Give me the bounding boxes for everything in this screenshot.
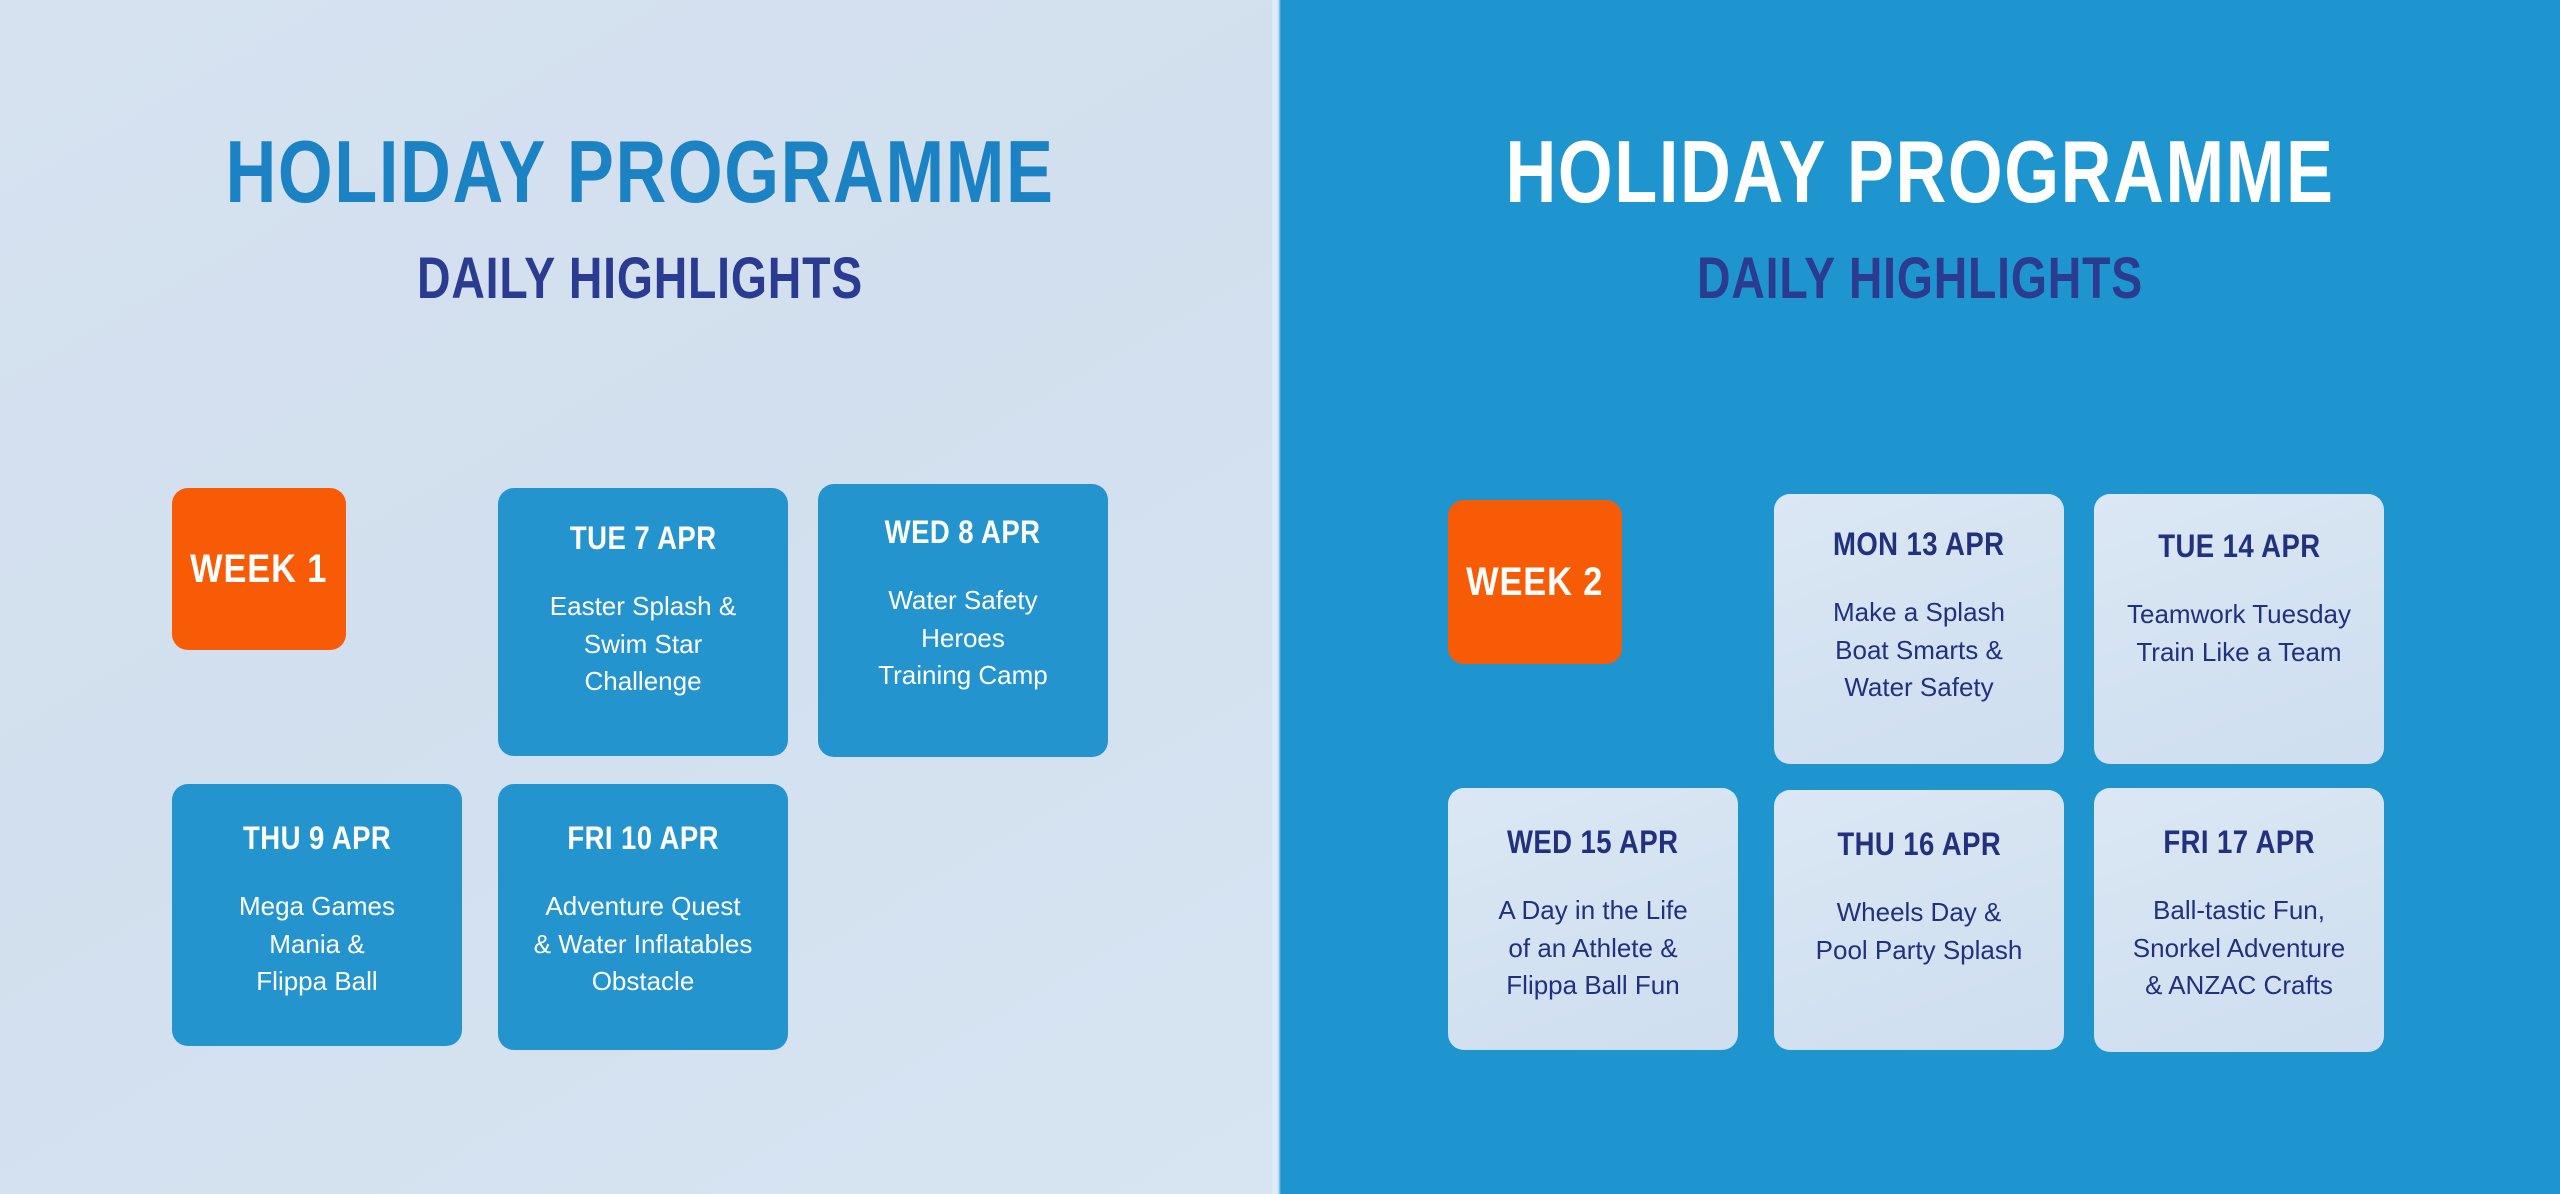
day-card-body: Wheels Day & Pool Party Splash xyxy=(1816,894,2023,969)
day-card-tue-14-apr[interactable]: TUE 14 APR Teamwork Tuesday Train Like a… xyxy=(2094,494,2384,764)
day-card-body: Teamwork Tuesday Train Like a Team xyxy=(2127,596,2351,671)
day-card-date: WED 15 APR xyxy=(1507,826,1678,858)
holiday-programme-board: HOLIDAY PROGRAMME DAILY HIGHLIGHTS WEEK … xyxy=(0,0,2560,1194)
panel-week-2: HOLIDAY PROGRAMME DAILY HIGHLIGHTS WEEK … xyxy=(1280,0,2560,1194)
day-card-date: THU 9 APR xyxy=(243,822,391,854)
day-card-date: WED 8 APR xyxy=(885,516,1041,548)
heading-week-2: HOLIDAY PROGRAMME DAILY HIGHLIGHTS xyxy=(1280,128,2560,308)
day-card-date: TUE 14 APR xyxy=(2158,530,2320,562)
day-card-body: Water Safety Heroes Training Camp xyxy=(878,582,1048,695)
day-card-date: THU 16 APR xyxy=(1837,828,2001,860)
day-card-thu-9-apr[interactable]: THU 9 APR Mega Games Mania & Flippa Ball xyxy=(172,784,462,1046)
week-badge-label: WEEK 2 xyxy=(1466,560,1603,605)
day-card-mon-13-apr[interactable]: MON 13 APR Make a Splash Boat Smarts & W… xyxy=(1774,494,2064,764)
day-card-date: MON 13 APR xyxy=(1833,528,2004,560)
day-card-fri-17-apr[interactable]: FRI 17 APR Ball-tastic Fun, Snorkel Adve… xyxy=(2094,788,2384,1052)
week-badge-label: WEEK 1 xyxy=(190,547,327,592)
week-badge-card-2[interactable]: WEEK 2 xyxy=(1448,500,1622,664)
day-card-wed-15-apr[interactable]: WED 15 APR A Day in the Life of an Athle… xyxy=(1448,788,1738,1050)
page-title: HOLIDAY PROGRAMME xyxy=(128,128,1152,216)
day-card-body: Make a Splash Boat Smarts & Water Safety xyxy=(1833,594,2005,707)
day-card-body: Easter Splash & Swim Star Challenge xyxy=(550,588,736,701)
day-card-body: Mega Games Mania & Flippa Ball xyxy=(239,888,395,1001)
day-card-body: Ball-tastic Fun, Snorkel Adventure & ANZ… xyxy=(2133,892,2345,1005)
page-subtitle: DAILY HIGHLIGHTS xyxy=(1408,250,2432,308)
day-card-body: A Day in the Life of an Athlete & Flippa… xyxy=(1498,892,1687,1005)
day-card-fri-10-apr[interactable]: FRI 10 APR Adventure Quest & Water Infla… xyxy=(498,784,788,1050)
day-card-date: FRI 17 APR xyxy=(2163,826,2315,858)
day-card-thu-16-apr[interactable]: THU 16 APR Wheels Day & Pool Party Splas… xyxy=(1774,790,2064,1050)
panel-week-1: HOLIDAY PROGRAMME DAILY HIGHLIGHTS WEEK … xyxy=(0,0,1280,1194)
page-subtitle: DAILY HIGHLIGHTS xyxy=(128,250,1152,308)
day-card-date: FRI 10 APR xyxy=(567,822,719,854)
day-card-body: Adventure Quest & Water Inflatables Obst… xyxy=(534,888,753,1001)
day-card-date: TUE 7 APR xyxy=(570,522,717,554)
heading-week-1: HOLIDAY PROGRAMME DAILY HIGHLIGHTS xyxy=(0,128,1280,308)
week-badge-card-1[interactable]: WEEK 1 xyxy=(172,488,346,650)
day-card-wed-8-apr[interactable]: WED 8 APR Water Safety Heroes Training C… xyxy=(818,484,1108,757)
page-title: HOLIDAY PROGRAMME xyxy=(1408,128,2432,216)
day-card-tue-7-apr[interactable]: TUE 7 APR Easter Splash & Swim Star Chal… xyxy=(498,488,788,756)
